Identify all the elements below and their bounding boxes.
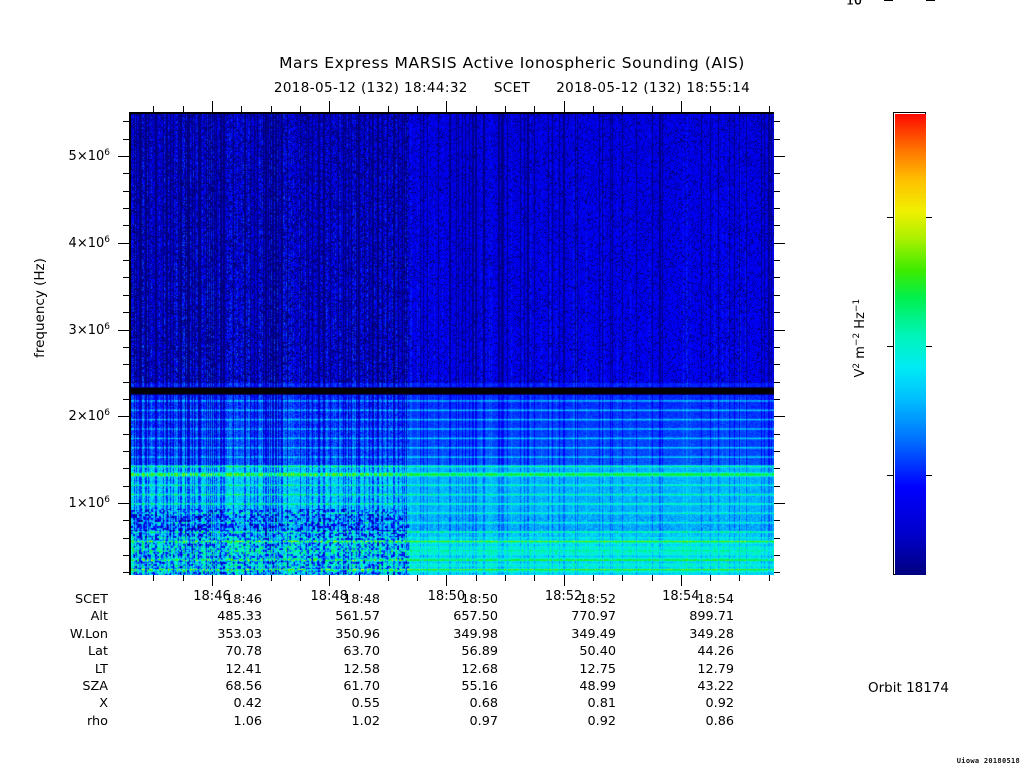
colorbar-tick-label: 10−10 [846,0,888,8]
table-cell: 0.81 [536,696,616,711]
table-row-label: Lat [0,644,108,659]
table-cell: 18:46 [182,592,262,607]
table-cell: 0.55 [300,696,380,711]
table-cell: 0.92 [536,714,616,729]
colorbar[interactable] [893,112,926,575]
table-cell: 70.78 [182,644,262,659]
table-cell: 353.03 [182,627,262,642]
colorbar-title: V2 m−2 Hz−1 [852,238,868,438]
table-cell: 350.96 [300,627,380,642]
table-cell: 0.97 [418,714,498,729]
table-cell: 61.70 [300,679,380,694]
table-cell: 43.22 [654,679,734,694]
ephemeris-table: SCET18:4618:4818:5018:5218:54Alt485.3356… [0,592,790,731]
table-cell: 18:54 [654,592,734,607]
table-cell: 561.57 [300,609,380,624]
table-row: rho1.061.020.970.920.86 [0,714,790,731]
table-cell: 48.99 [536,679,616,694]
table-cell: 68.56 [182,679,262,694]
table-row-label: SZA [0,679,108,694]
table-cell: 56.89 [418,644,498,659]
colorbar-exponent: −10 [862,0,881,2]
table-row: LT12.4112.5812.6812.7512.79 [0,662,790,679]
table-row: X0.420.550.680.810.92 [0,696,790,713]
table-cell: 12.41 [182,662,262,677]
colorbar-canvas [895,114,926,575]
table-cell: 0.68 [418,696,498,711]
table-row-label: SCET [0,592,108,607]
plot-page: Mars Express MARSIS Active Ionospheric S… [0,0,1024,768]
table-cell: 349.49 [536,627,616,642]
table-row: Lat70.7863.7056.8950.4044.26 [0,644,790,661]
table-cell: 899.71 [654,609,734,624]
table-cell: 18:52 [536,592,616,607]
table-row: W.Lon353.03350.96349.98349.49349.28 [0,627,790,644]
table-row: SCET18:4618:4818:5018:5218:54 [0,592,790,609]
table-cell: 485.33 [182,609,262,624]
table-cell: 349.98 [418,627,498,642]
table-cell: 0.42 [182,696,262,711]
table-cell: 18:48 [300,592,380,607]
table-cell: 44.26 [654,644,734,659]
table-row-label: rho [0,714,108,729]
colorbar-mantissa: 10 [846,0,862,8]
orbit-label: Orbit 18174 [868,680,949,696]
table-row-label: X [0,696,108,711]
table-cell: 1.02 [300,714,380,729]
table-cell: 18:50 [418,592,498,607]
table-cell: 12.68 [418,662,498,677]
table-cell: 1.06 [182,714,262,729]
table-cell: 12.75 [536,662,616,677]
colorbar-unit: V [853,369,868,378]
table-cell: 657.50 [418,609,498,624]
table-row-label: Alt [0,609,108,624]
table-row: Alt485.33561.57657.50770.97899.71 [0,609,790,626]
table-cell: 0.92 [654,696,734,711]
table-row: SZA68.5661.7055.1648.9943.22 [0,679,790,696]
table-cell: 55.16 [418,679,498,694]
table-cell: 770.97 [536,609,616,624]
table-cell: 63.70 [300,644,380,659]
table-cell: 0.86 [654,714,734,729]
watermark-label: Uiowa 20180518 [957,757,1020,765]
table-cell: 12.79 [654,662,734,677]
table-cell: 50.40 [536,644,616,659]
table-cell: 12.58 [300,662,380,677]
table-row-label: LT [0,662,108,677]
table-cell: 349.28 [654,627,734,642]
table-row-label: W.Lon [0,627,108,642]
